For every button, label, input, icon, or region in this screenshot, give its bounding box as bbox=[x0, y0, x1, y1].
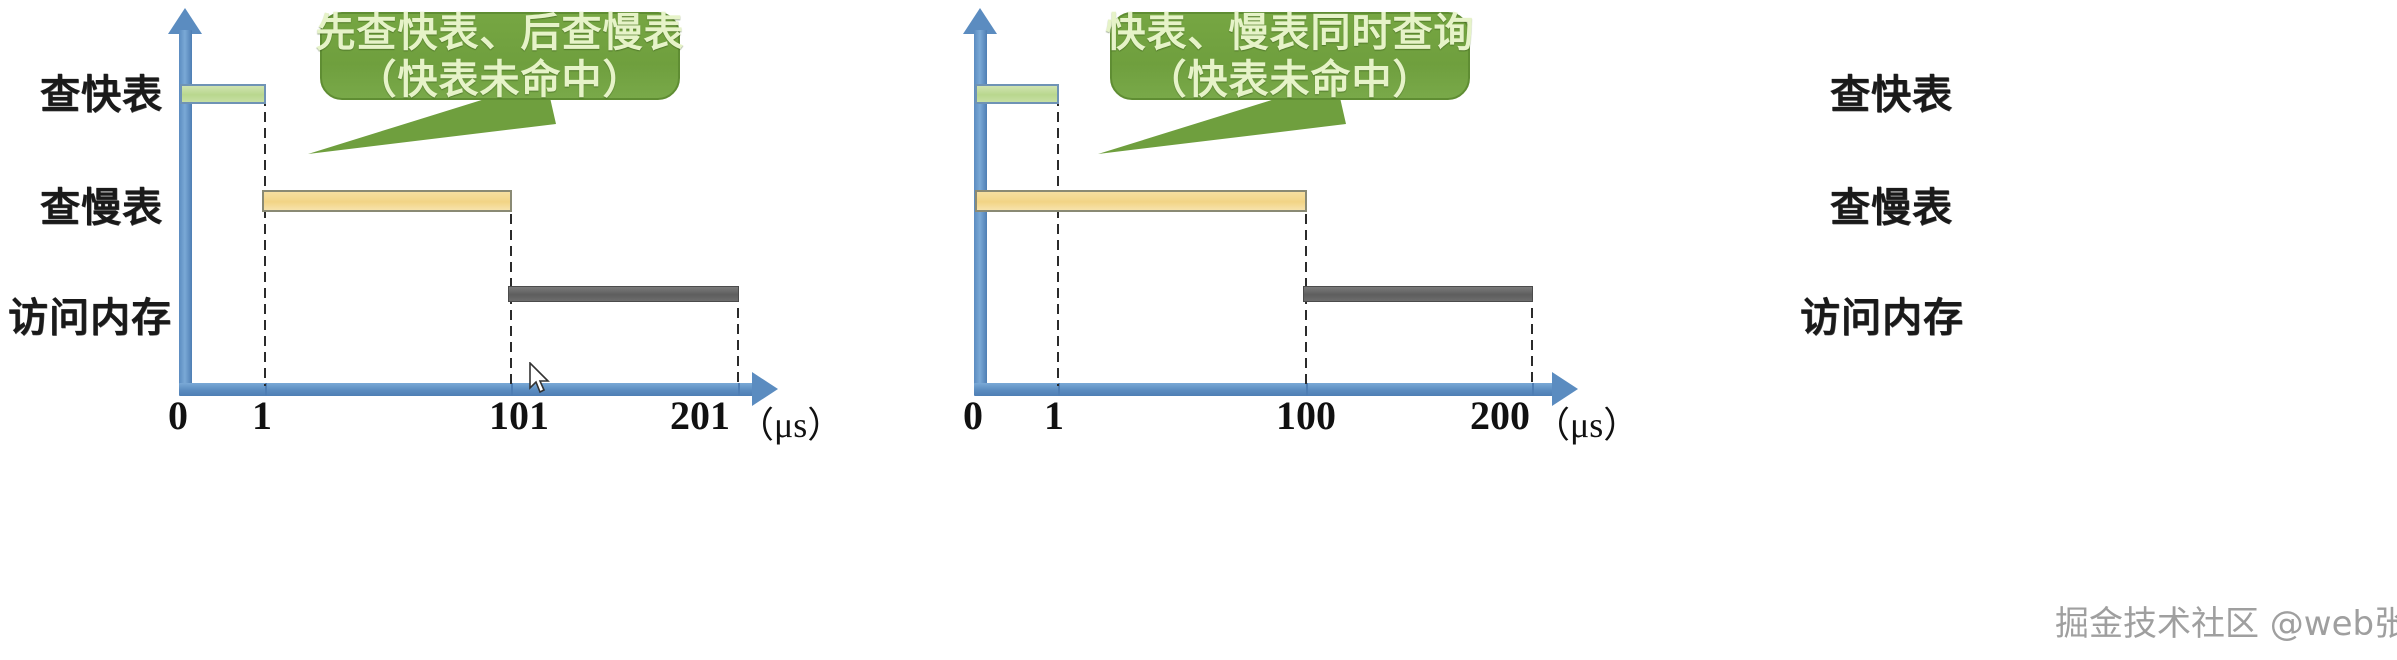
right-guide-200 bbox=[1531, 292, 1533, 386]
left-bar-memory bbox=[508, 286, 739, 302]
left-row-label-slow-table: 查慢表 bbox=[40, 175, 163, 233]
right-axis-unit: （μs） bbox=[1534, 396, 1639, 448]
left-guide-201 bbox=[737, 292, 739, 386]
right-guide-1 bbox=[1057, 96, 1059, 386]
left-tick-label-201: 201 bbox=[670, 392, 730, 439]
right-row-label-memory: 访问内存 bbox=[1800, 285, 1964, 343]
right-callout: 快表、慢表同时查询 （快表未命中） bbox=[1110, 12, 1470, 100]
right-bar-memory bbox=[1303, 286, 1533, 302]
right-chart-panel: 查快表 查慢表 访问内存 0 1 100 200 （μs） 快表、慢表同时 bbox=[1180, 0, 2397, 660]
left-guide-1 bbox=[264, 96, 266, 386]
left-chart-panel: 查快表 查慢表 访问内存 0 1 101 201 （μs） 先查快表、后查 bbox=[0, 0, 1280, 660]
left-row-label-fast-table: 查快表 bbox=[40, 62, 163, 120]
left-axis-unit: （μs） bbox=[738, 396, 843, 448]
right-callout-line2: （快表未命中） bbox=[1147, 56, 1434, 103]
right-tick-label-0: 0 bbox=[963, 392, 983, 439]
right-tick-label-200: 200 bbox=[1470, 392, 1530, 439]
mouse-cursor-icon bbox=[528, 362, 554, 396]
left-tick-label-101: 101 bbox=[489, 392, 549, 439]
left-bar-fast-table bbox=[180, 84, 266, 104]
left-tick-label-0: 0 bbox=[168, 392, 188, 439]
left-row-label-memory: 访问内存 bbox=[8, 285, 172, 343]
right-tick-label-1: 1 bbox=[1044, 392, 1064, 439]
right-bar-fast-table bbox=[975, 84, 1059, 104]
right-callout-line1: 快表、慢表同时查询 bbox=[1106, 9, 1475, 56]
right-bar-slow-table bbox=[975, 190, 1307, 212]
left-bar-slow-table bbox=[262, 190, 512, 212]
left-callout-line2: （快表未命中） bbox=[357, 56, 644, 103]
right-row-label-slow-table: 查慢表 bbox=[1830, 175, 1953, 233]
diagram-canvas: 查快表 查慢表 访问内存 0 1 101 201 （μs） 先查快表、后查 bbox=[0, 0, 2397, 660]
right-tick-label-100: 100 bbox=[1276, 392, 1336, 439]
left-callout: 先查快表、后查慢表 （快表未命中） bbox=[320, 12, 680, 100]
left-tick-label-1: 1 bbox=[252, 392, 272, 439]
watermark: 掘金技术社区 @web张 bbox=[2055, 596, 2397, 645]
right-row-label-fast-table: 查快表 bbox=[1830, 62, 1953, 120]
left-callout-line1: 先查快表、后查慢表 bbox=[316, 9, 685, 56]
